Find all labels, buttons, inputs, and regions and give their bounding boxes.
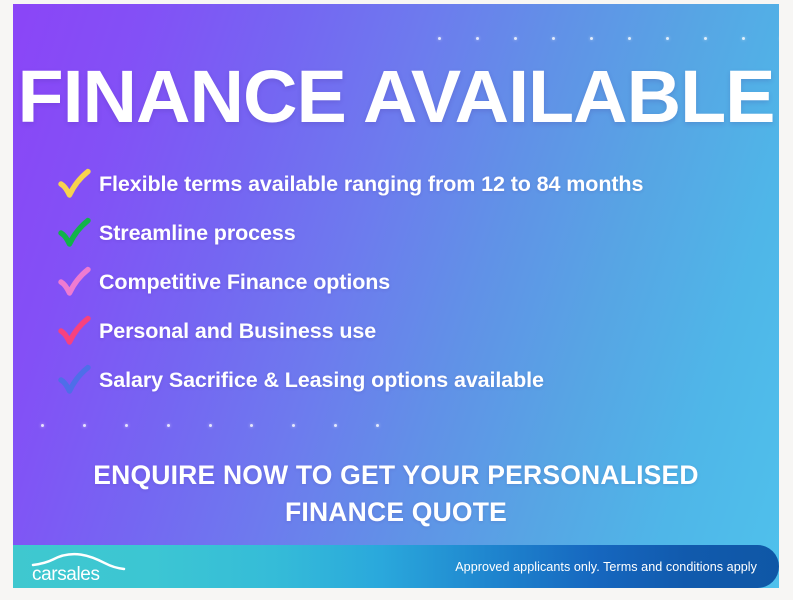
call-to-action-text: ENQUIRE NOW TO GET YOUR PERSONALISED FIN… — [73, 457, 719, 531]
finance-available-ad: FINANCE AVAILABLE Flexible terms availab… — [0, 0, 793, 600]
decorative-dot — [209, 424, 212, 427]
decorative-dot — [438, 37, 441, 40]
list-item: Salary Sacrifice & Leasing options avail… — [57, 356, 773, 405]
svg-text:carsales: carsales — [32, 564, 100, 583]
list-item: Flexible terms available ranging from 12… — [57, 160, 773, 209]
feature-list: Flexible terms available ranging from 12… — [57, 160, 773, 405]
decorative-dot — [41, 424, 44, 427]
check-mark-icon — [57, 263, 99, 303]
decorative-dot-row-top — [438, 35, 779, 41]
decorative-dot — [125, 424, 128, 427]
check-mark-icon — [57, 312, 99, 352]
decorative-dot — [552, 37, 555, 40]
decorative-dot-row-middle — [41, 422, 379, 428]
list-item-label: Flexible terms available ranging from 12… — [99, 172, 643, 197]
decorative-dot — [666, 37, 669, 40]
decorative-dot — [476, 37, 479, 40]
decorative-dot — [704, 37, 707, 40]
list-item-label: Salary Sacrifice & Leasing options avail… — [99, 368, 544, 393]
list-item: Streamline process — [57, 209, 773, 258]
decorative-dot — [292, 424, 295, 427]
ad-gradient-panel: FINANCE AVAILABLE Flexible terms availab… — [13, 4, 779, 588]
list-item-label: Competitive Finance options — [99, 270, 390, 295]
disclaimer-text: Approved applicants only. Terms and cond… — [455, 545, 757, 588]
check-mark-icon — [57, 165, 99, 205]
decorative-dot — [514, 37, 517, 40]
list-item-label: Streamline process — [99, 221, 296, 246]
decorative-dot — [334, 424, 337, 427]
list-item: Competitive Finance options — [57, 258, 773, 307]
cta-line-1: ENQUIRE NOW TO GET YOUR PERSONALISED — [73, 457, 719, 494]
check-mark-icon — [57, 361, 99, 401]
decorative-dot — [250, 424, 253, 427]
footer-bar: carsales Approved applicants only. Terms… — [13, 545, 779, 588]
decorative-dot — [167, 424, 170, 427]
cta-line-2: FINANCE QUOTE — [73, 494, 719, 531]
check-mark-icon — [57, 214, 99, 254]
decorative-dot — [590, 37, 593, 40]
list-item-label: Personal and Business use — [99, 319, 376, 344]
carsales-logo-icon[interactable]: carsales — [31, 551, 127, 583]
decorative-dot — [742, 37, 745, 40]
decorative-dot — [83, 424, 86, 427]
page-title: FINANCE AVAILABLE — [13, 58, 779, 136]
decorative-dot — [376, 424, 379, 427]
decorative-dot — [628, 37, 631, 40]
list-item: Personal and Business use — [57, 307, 773, 356]
